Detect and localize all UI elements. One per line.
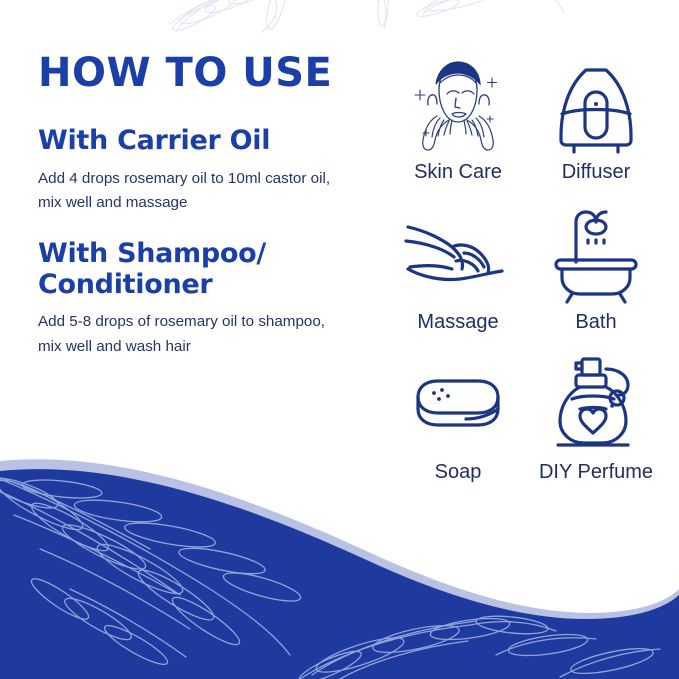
- soap-bar-icon: [408, 352, 508, 460]
- usage-label-bath: Bath: [575, 312, 616, 332]
- massage-hand-icon: [402, 202, 514, 310]
- usage-item-diffuser: Diffuser: [530, 52, 662, 202]
- wave-band-bottom: [0, 449, 679, 679]
- face-skincare-icon: [406, 52, 510, 160]
- section-heading-shampoo-conditioner: With Shampoo/ Conditioner: [38, 238, 378, 301]
- usage-label-diffuser: Diffuser: [562, 162, 631, 182]
- how-to-use-infographic: HOW TO USE With Carrier Oil Add 4 drops …: [0, 0, 679, 679]
- usage-label-massage: Massage: [417, 312, 498, 332]
- section-heading-carrier-oil: With Carrier Oil: [38, 125, 378, 156]
- bathtub-shower-icon: [546, 202, 646, 310]
- page-title: HOW TO USE: [38, 52, 378, 95]
- perfume-bottle-heart-icon: [546, 352, 646, 460]
- section-shampoo-conditioner: With Shampoo/ Conditioner Add 5-8 drops …: [38, 238, 378, 360]
- section-carrier-oil: With Carrier Oil Add 4 drops rosemary oi…: [38, 125, 378, 216]
- rosemary-sprig-top-icon: [150, 0, 570, 54]
- usage-icon-grid: Skin Care Diffuser: [392, 52, 662, 502]
- diffuser-icon: [548, 52, 644, 160]
- section-body-carrier-oil: Add 4 drops rosemary oil to 10ml castor …: [38, 167, 338, 216]
- usage-item-bath: Bath: [530, 202, 662, 352]
- instructions-column: HOW TO USE With Carrier Oil Add 4 drops …: [38, 52, 378, 382]
- usage-item-massage: Massage: [392, 202, 524, 352]
- usage-label-skin-care: Skin Care: [414, 162, 502, 182]
- section-body-shampoo-conditioner: Add 5-8 drops of rosemary oil to shampoo…: [38, 310, 338, 359]
- usage-item-skin-care: Skin Care: [392, 52, 524, 202]
